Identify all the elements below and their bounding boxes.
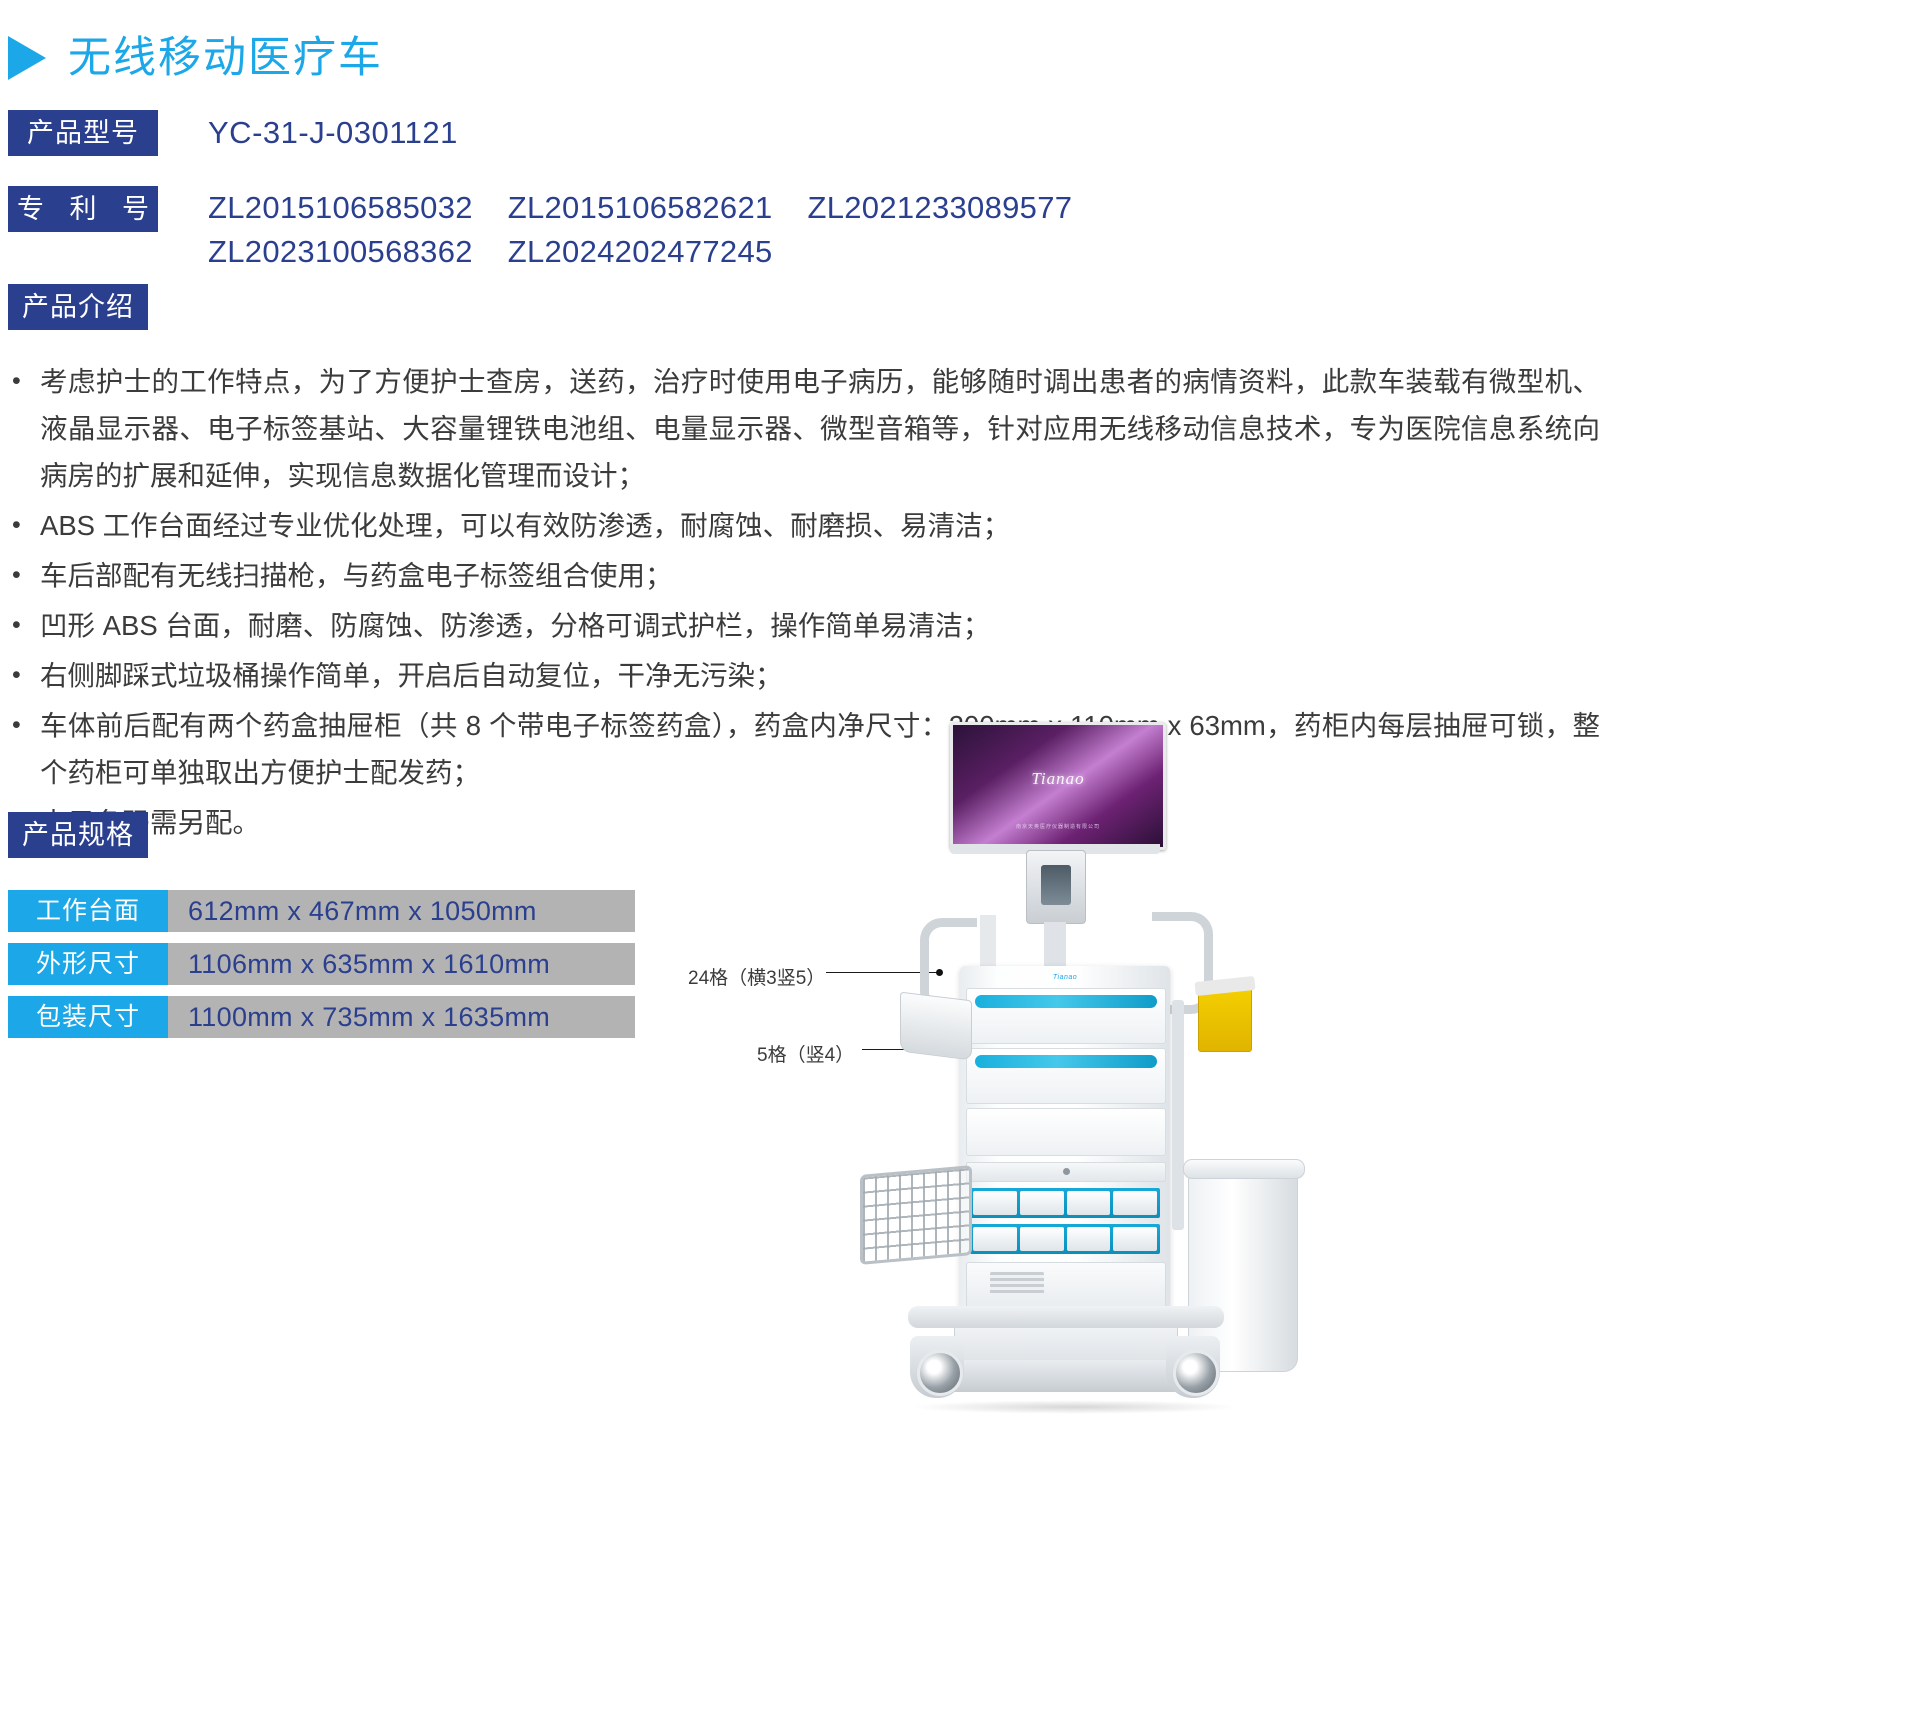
model-row: 产品型号 YC-31-J-0301121 bbox=[8, 110, 458, 156]
drawer-handle-strip bbox=[975, 1055, 1157, 1068]
table-row: 包装尺寸 1100mm x 735mm x 1635mm bbox=[8, 996, 635, 1038]
scanner-screen bbox=[1041, 865, 1071, 905]
caster-wheel-left bbox=[910, 1336, 964, 1398]
list-item: • 车后部配有无线扫描枪，与药盒电子标签组合使用； bbox=[12, 552, 1600, 599]
patent-line-1: ZL2015106585032 ZL2015106582621 ZL202123… bbox=[208, 186, 1098, 230]
monitor-subtext: 南京天奥医疗仪器制造有限公司 bbox=[1016, 823, 1100, 830]
specification-table: 工作台面 612mm x 467mm x 1050mm 外形尺寸 1106mm … bbox=[8, 890, 635, 1049]
list-item: • ABS 工作台面经过专业优化处理，可以有效防渗透，耐腐蚀、耐磨损、易清洁； bbox=[12, 502, 1600, 549]
patent-number: ZL2024202477245 bbox=[508, 234, 773, 269]
bullet-dot-icon: • bbox=[12, 502, 40, 549]
waste-bin-lid bbox=[1183, 1159, 1305, 1179]
monitor-display: Tianao 南京天奥医疗仪器制造有限公司 bbox=[950, 722, 1166, 850]
medicine-bin bbox=[1113, 1227, 1157, 1251]
wheel bbox=[1173, 1350, 1219, 1396]
medicine-bin bbox=[1020, 1227, 1064, 1251]
spec-key: 包装尺寸 bbox=[8, 996, 168, 1038]
medicine-bin bbox=[973, 1191, 1017, 1215]
list-item-text: 右侧脚踩式垃圾桶操作简单，开启后自动复位，干净无污染； bbox=[40, 652, 1600, 699]
model-value: YC-31-J-0301121 bbox=[208, 110, 458, 156]
play-triangle-icon bbox=[8, 36, 46, 80]
bullet-dot-icon: • bbox=[12, 652, 40, 699]
medicine-bin bbox=[1067, 1227, 1111, 1251]
sharps-container bbox=[1198, 986, 1252, 1052]
drawer-handle-strip bbox=[975, 995, 1157, 1008]
wheel bbox=[917, 1350, 963, 1396]
patent-number: ZL2021233089577 bbox=[807, 190, 1072, 225]
medicine-bin-row-upper bbox=[970, 1188, 1160, 1218]
table-row: 外形尺寸 1106mm x 635mm x 1610mm bbox=[8, 943, 635, 985]
bullet-dot-icon: • bbox=[12, 702, 40, 749]
accessory-mount-arm bbox=[1172, 1000, 1184, 1230]
spec-value: 1106mm x 635mm x 1610mm bbox=[168, 943, 635, 985]
ventilation-grille bbox=[990, 1272, 1044, 1294]
page-title: 无线移动医疗车 bbox=[68, 37, 383, 80]
patent-line-2: ZL2023100568362 ZL2024202477245 bbox=[208, 230, 1098, 274]
list-item: • 考虑护士的工作特点，为了方便护士查房，送药，治疗时使用电子病历，能够随时调出… bbox=[12, 358, 1600, 499]
model-label: 产品型号 bbox=[8, 110, 158, 156]
wire-storage-basket bbox=[860, 1165, 972, 1265]
caster-wheel-right bbox=[1166, 1336, 1220, 1398]
drawer-middle bbox=[966, 1048, 1166, 1104]
side-pull-out-tray bbox=[900, 992, 972, 1061]
cabinet-lock-band bbox=[966, 1162, 1166, 1182]
table-row: 工作台面 612mm x 467mm x 1050mm bbox=[8, 890, 635, 932]
bullet-dot-icon: • bbox=[12, 602, 40, 649]
medicine-bin bbox=[1113, 1191, 1157, 1215]
list-item-text: 考虑护士的工作特点，为了方便护士查房，送药，治疗时使用电子病历，能够随时调出患者… bbox=[40, 358, 1600, 499]
patent-row: 专 利 号 ZL2015106585032 ZL2015106582621 ZL… bbox=[8, 186, 1098, 274]
list-item-text: 车后部配有无线扫描枪，与药盒电子标签组合使用； bbox=[40, 552, 1600, 599]
medicine-bin bbox=[973, 1227, 1017, 1251]
list-item-text: 凹形 ABS 台面，耐磨、防腐蚀、防渗透，分格可调式护栏，操作简单易清洁； bbox=[40, 602, 1600, 649]
spec-key: 工作台面 bbox=[8, 890, 168, 932]
patent-number: ZL2015106582621 bbox=[508, 190, 773, 225]
ground-shadow bbox=[910, 1400, 1240, 1414]
lock-keyhole-icon bbox=[1063, 1168, 1070, 1175]
medicine-bin-row-lower bbox=[970, 1224, 1160, 1254]
medicine-bin bbox=[1020, 1191, 1064, 1215]
medicine-bin bbox=[1067, 1191, 1111, 1215]
spec-value: 612mm x 467mm x 1050mm bbox=[168, 890, 635, 932]
patent-number: ZL2023100568362 bbox=[208, 234, 473, 269]
list-item: • 右侧脚踩式垃圾桶操作简单，开启后自动复位，干净无污染； bbox=[12, 652, 1600, 699]
base-plate bbox=[932, 1360, 1198, 1392]
list-item-text: ABS 工作台面经过专业优化处理，可以有效防渗透，耐腐蚀、耐磨损、易清洁； bbox=[40, 502, 1600, 549]
section-label-introduction: 产品介绍 bbox=[8, 284, 148, 330]
barcode-scanner-unit bbox=[1026, 850, 1086, 924]
drawer-lower bbox=[966, 1108, 1166, 1156]
product-photo-medical-cart: Tianao 南京天奥医疗仪器制造有限公司 Tianao bbox=[800, 700, 1360, 1700]
drawer-upper bbox=[966, 988, 1166, 1044]
base-support-bar bbox=[908, 1306, 1224, 1328]
bullet-dot-icon: • bbox=[12, 358, 40, 405]
patent-number: ZL2015106585032 bbox=[208, 190, 473, 225]
list-item: • 凹形 ABS 台面，耐磨、防腐蚀、防渗透，分格可调式护栏，操作简单易清洁； bbox=[12, 602, 1600, 649]
page-header: 无线移动医疗车 bbox=[8, 8, 383, 109]
patent-values: ZL2015106585032 ZL2015106582621 ZL202123… bbox=[208, 186, 1098, 274]
cabinet-brand-logo: Tianao bbox=[1053, 974, 1077, 981]
spec-value: 1100mm x 735mm x 1635mm bbox=[168, 996, 635, 1038]
patent-label: 专 利 号 bbox=[8, 186, 158, 232]
section-label-specification: 产品规格 bbox=[8, 812, 148, 858]
spec-key: 外形尺寸 bbox=[8, 943, 168, 985]
bullet-dot-icon: • bbox=[12, 552, 40, 599]
monitor-brand-logo: Tianao bbox=[1031, 769, 1084, 789]
product-datasheet-page: 无线移动医疗车 产品型号 YC-31-J-0301121 专 利 号 ZL201… bbox=[0, 0, 1920, 1712]
